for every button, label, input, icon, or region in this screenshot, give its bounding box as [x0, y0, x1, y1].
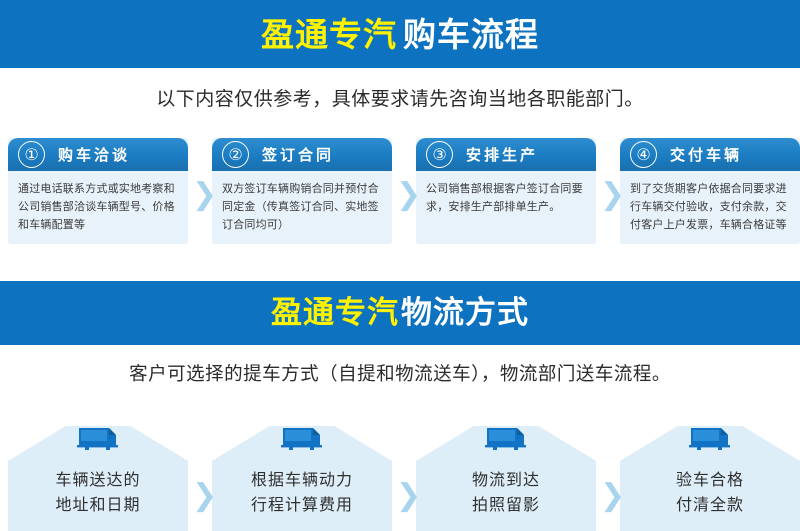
logistics-card-2: 根据车辆动力 行程计算费用: [212, 426, 392, 531]
logistics-label-3: 物流到达 拍照留影: [416, 468, 596, 518]
step-body-4: 到了交货期客户依据合同要求进行车辆交付验收，支付余款，交付客户上户发票，车辆合格…: [620, 171, 800, 233]
logistics-label-4-line1: 验车合格: [620, 468, 800, 493]
chevron-right-icon: ❯: [192, 483, 214, 509]
step-title-4: 交付车辆: [670, 144, 742, 165]
step-header-4: ④ 交付车辆: [620, 138, 800, 171]
logistics-card-1: 车辆送达的 地址和日期: [8, 426, 188, 531]
step-title-3: 安排生产: [466, 144, 538, 165]
purchase-logistics-infographic: 盈通专汽购车流程 以下内容仅供参考，具体要求请先咨询当地各职能部门。 ① 购车洽…: [0, 0, 800, 531]
truck-icon: [688, 426, 732, 452]
brand-name: 盈通专汽: [261, 15, 397, 54]
logistics-label-3-line2: 拍照留影: [416, 493, 596, 518]
purchase-subtitle: 以下内容仅供参考，具体要求请先咨询当地各职能部门。: [0, 84, 800, 111]
step-card-4: ④ 交付车辆 到了交货期客户依据合同要求进行车辆交付验收，支付余款，交付客户上户…: [620, 138, 800, 244]
step-body-1: 通过电话联系方式或实地考察和公司销售部洽谈车辆型号、价格和车辆配置等: [8, 171, 188, 233]
truck-icon: [76, 426, 120, 452]
logistics-label-2-line2: 行程计算费用: [212, 493, 392, 518]
chevron-right-icon: ❯: [600, 182, 622, 208]
logistics-banner: 盈通专汽物流方式: [0, 281, 800, 345]
logistics-label-1-line2: 地址和日期: [8, 493, 188, 518]
step-number-badge-1: ①: [18, 141, 45, 168]
step-card-2: ② 签订合同 双方签订车辆购销合同并预付合同定金（传真签订合同、实地签订合同均可…: [212, 138, 392, 244]
logistics-label-4: 验车合格 付清全款: [620, 468, 800, 518]
logistics-card-4: 验车合格 付清全款: [620, 426, 800, 531]
step-title-1: 购车洽谈: [58, 144, 130, 165]
logistics-card-3: 物流到达 拍照留影: [416, 426, 596, 531]
logistics-label-2-line1: 根据车辆动力: [212, 468, 392, 493]
step-title-2: 签订合同: [262, 144, 334, 165]
logistics-banner-title: 盈通专汽物流方式: [271, 298, 529, 329]
step-number-badge-3: ③: [426, 141, 453, 168]
truck-icon: [280, 426, 324, 452]
step-header-2: ② 签订合同: [212, 138, 392, 171]
truck-icon: [484, 426, 528, 452]
logistics-subtitle: 客户可选择的提车方式（自提和物流送车），物流部门送车流程。: [0, 360, 800, 386]
logistics-title-text: 物流方式: [399, 295, 529, 331]
chevron-right-icon: ❯: [396, 182, 418, 208]
step-number-badge-4: ④: [630, 141, 657, 168]
step-card-1: ① 购车洽谈 通过电话联系方式或实地考察和公司销售部洽谈车辆型号、价格和车辆配置…: [8, 138, 188, 244]
step-header-1: ① 购车洽谈: [8, 138, 188, 171]
step-card-3: ③ 安排生产 公司销售部根据客户签订合同要求，安排生产部排单生产。: [416, 138, 596, 244]
brand-name: 盈通专汽: [271, 295, 399, 331]
purchase-banner-title: 盈通专汽购车流程: [261, 18, 539, 51]
purchase-banner: 盈通专汽购车流程: [0, 0, 800, 68]
step-number-badge-2: ②: [222, 141, 249, 168]
step-header-3: ③ 安排生产: [416, 138, 596, 171]
step-body-3: 公司销售部根据客户签订合同要求，安排生产部排单生产。: [416, 171, 596, 216]
chevron-right-icon: ❯: [600, 483, 622, 509]
logistics-label-1: 车辆送达的 地址和日期: [8, 468, 188, 518]
chevron-right-icon: ❯: [192, 182, 214, 208]
logistics-label-1-line1: 车辆送达的: [8, 468, 188, 493]
step-body-2: 双方签订车辆购销合同并预付合同定金（传真签订合同、实地签订合同均可）: [212, 171, 392, 233]
chevron-right-icon: ❯: [396, 483, 418, 509]
logistics-label-4-line2: 付清全款: [620, 493, 800, 518]
logistics-label-2: 根据车辆动力 行程计算费用: [212, 468, 392, 518]
purchase-title-text: 购车流程: [397, 15, 539, 54]
logistics-label-3-line1: 物流到达: [416, 468, 596, 493]
